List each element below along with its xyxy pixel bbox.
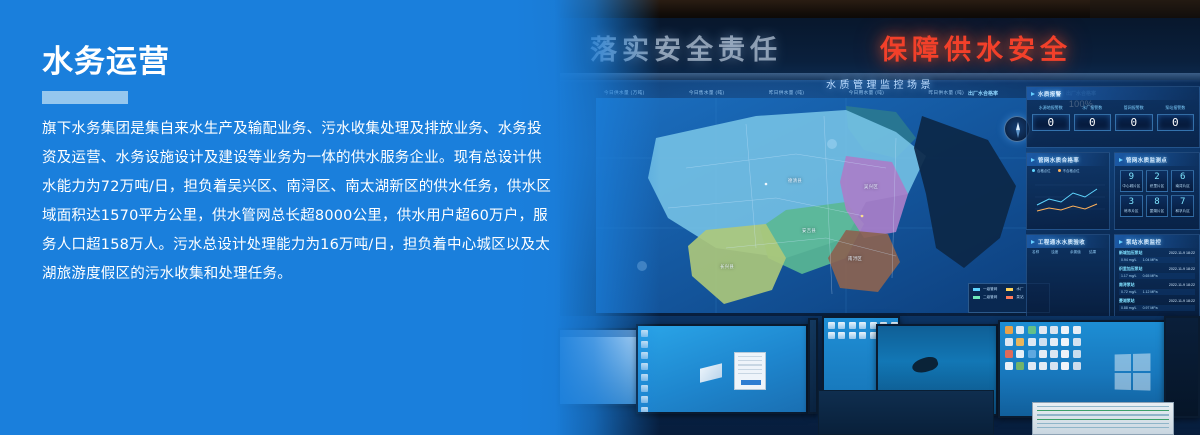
dialog-line <box>738 373 762 374</box>
monitor-points-grid: 9 中心城片区 2 织里片区 6 南浔片区 <box>1115 166 1199 222</box>
pump-name: 南浔泵站 <box>1119 282 1135 288</box>
pump-name: 菱湖泵站 <box>1119 298 1135 304</box>
legend-swatch <box>1006 288 1013 291</box>
stat-item: 昨日供水量 (吨) <box>769 90 805 98</box>
dialog-window <box>734 352 766 390</box>
card-title: 水质报警 <box>1038 90 1062 98</box>
arrow-icon <box>1031 158 1035 162</box>
desktop-icon <box>1061 338 1069 346</box>
desktop-icon <box>1061 326 1069 334</box>
dialog-line <box>738 356 762 357</box>
desktop-icon <box>1050 338 1058 346</box>
desktop-icon <box>1073 338 1081 346</box>
desktop-icon <box>1028 362 1036 370</box>
monitor-point-cell[interactable]: 2 织里片区 <box>1146 170 1169 192</box>
desktop-icon <box>1016 362 1024 370</box>
monitor-point-cell[interactable]: 6 南浔片区 <box>1171 170 1194 192</box>
monitor-point-value: 6 <box>1172 173 1193 183</box>
alarm-cell[interactable]: 水源地报警数 0 <box>1032 105 1070 131</box>
arrow-icon <box>1119 240 1123 244</box>
acceptance-table-header: 名称 浊度 余氯值 结果 <box>1027 248 1109 257</box>
alarm-label: 水厂报警数 <box>1074 105 1112 111</box>
monitor-point-value: 9 <box>1121 173 1142 183</box>
pump-log-row[interactable]: 新城加压泵站 2022-11-9 18:22 0.94 mg/L 1.04 MP… <box>1119 250 1195 263</box>
title-accent-bar <box>42 91 128 104</box>
desktop-icon <box>1039 326 1047 334</box>
monitor-point-value: 2 <box>1147 173 1168 183</box>
legend-swatch <box>973 288 980 291</box>
text-overlay-panel: 水务运营 旗下水务集团是集自来水生产及输配业务、污水收集处理及排放业务、水务投资… <box>0 0 660 435</box>
laptop-dark <box>818 390 994 435</box>
alarm-value: 0 <box>1047 116 1054 129</box>
legend-item: 合格点位 <box>1032 168 1051 173</box>
pump-log-top: 南浔泵站 2022-11-9 18:22 <box>1119 282 1195 288</box>
monitor-presentation <box>636 324 808 414</box>
arrow-icon <box>1031 92 1035 96</box>
monitor-point-value: 7 <box>1172 198 1193 208</box>
desktop-icon <box>1061 362 1069 370</box>
map-svg <box>596 98 1026 313</box>
banner-slogan-right: 保障供水安全 <box>880 28 1072 67</box>
desktop-icon <box>1028 350 1036 358</box>
desktop-icon <box>828 322 835 329</box>
stat-label: 昨日供水量 (吨) <box>929 90 965 96</box>
pump-time: 2022-11-9 18:22 <box>1169 251 1195 255</box>
diver-silhouette <box>910 354 939 375</box>
desktop-icon <box>1073 326 1081 334</box>
desktop-icon <box>1073 362 1081 370</box>
desktop-icon <box>828 332 835 339</box>
dialog-line <box>738 364 762 365</box>
spreadsheet-line <box>1037 419 1169 420</box>
pump-v2: 1.04 MPa <box>1143 258 1158 262</box>
arrow-icon <box>1031 240 1035 244</box>
desktop-icon <box>1050 350 1058 358</box>
monitor-point-value: 3 <box>1121 198 1142 208</box>
legend-dot <box>1032 169 1035 172</box>
pump-log-top: 织里加压泵站 2022-11-9 18:22 <box>1119 266 1195 272</box>
desktop-icon <box>1005 326 1013 334</box>
card-monitor-points[interactable]: 管网水质监测点 9 中心城片区 2 织里片区 <box>1114 152 1200 230</box>
map-district-label: 吴兴区 <box>864 184 878 190</box>
spreadsheet-line <box>1037 414 1169 415</box>
dialog-button <box>741 380 761 385</box>
desktop-icon <box>1016 338 1024 346</box>
monitor-point-label: 和孚片区 <box>1172 209 1193 214</box>
legend-label: 不合格点位 <box>1063 168 1080 173</box>
pump-log-values: 0.88 mg/L 0.97 MPa <box>1119 305 1195 311</box>
arrow-icon <box>1119 158 1123 162</box>
pump-v2: 0.97 MPa <box>1143 306 1158 310</box>
monitor-point-label: 练市片区 <box>1121 209 1142 214</box>
legend-label: 二级管网 <box>983 295 997 300</box>
desktop-icon <box>1005 338 1013 346</box>
desktop-icon <box>849 332 856 339</box>
legend-label: 一级管网 <box>983 287 997 292</box>
pump-name: 新城加压泵站 <box>1119 250 1142 256</box>
pump-log-list: 新城加压泵站 2022-11-9 18:22 0.94 mg/L 1.04 MP… <box>1115 248 1199 316</box>
stat-item: 昨日供水量 (吨) <box>929 90 965 98</box>
alarm-cell[interactable]: 管网报警数 0 <box>1115 105 1153 131</box>
alarm-box: 0 <box>1115 114 1153 131</box>
monitor-point-label: 织里片区 <box>1147 184 1168 189</box>
card-title: 管网水质监测点 <box>1126 156 1167 164</box>
legend-swatch <box>1006 296 1013 299</box>
monitor-point-cell[interactable]: 3 练市片区 <box>1120 195 1143 217</box>
desktop-icon <box>1050 362 1058 370</box>
map-district-label: 南浔区 <box>848 256 862 262</box>
monitor-point-cell[interactable]: 8 菱湖片区 <box>1146 195 1169 217</box>
stat-label: 今日售水量 (吨) <box>689 90 725 96</box>
alarm-label: 管网报警数 <box>1115 105 1153 111</box>
alarm-label: 泵站报警数 <box>1157 105 1195 111</box>
desktop-icon <box>859 322 866 329</box>
slide-banner: 落实安全责任 保障供水安全 水质管理监控场景 今日供水量 (万吨) 今日售水量 … <box>0 0 1200 435</box>
desktop-icon <box>1005 350 1013 358</box>
desktop-icon <box>1039 362 1047 370</box>
alarm-cell[interactable]: 水厂报警数 0 <box>1074 105 1112 131</box>
stat-item: 今日用水量 (吨) <box>849 90 885 98</box>
spreadsheet-line <box>1037 423 1169 424</box>
card-title: 工程通水水质验收 <box>1038 238 1085 246</box>
desktop-icon <box>849 322 856 329</box>
dashboard-right-column: 水质报警 水源地报警数 0 水厂报警数 <box>1026 80 1200 318</box>
desktop-icon-grid <box>1005 326 1081 370</box>
card-acceptance[interactable]: 工程通水水质验收 名称 浊度 余氯值 结果 <box>1026 234 1110 318</box>
pump-log-row[interactable]: 织里加压泵站 2022-11-9 18:22 1.17 mg/L 0.65 MP… <box>1119 266 1195 279</box>
map-district-label: 安吉县 <box>802 228 816 234</box>
app-logo-icon <box>700 363 722 382</box>
dialog-line <box>738 369 762 370</box>
pump-time: 2022-11-9 18:22 <box>1169 283 1195 287</box>
monitor-point-cell[interactable]: 7 和孚片区 <box>1171 195 1194 217</box>
monitor-point-value: 8 <box>1147 198 1168 208</box>
laptop-spreadsheet <box>1032 402 1174 435</box>
district-map[interactable]: 德清县 安吉县 长兴县 吴兴区 南浔区 一级管网 水厂 <box>596 98 1026 313</box>
legend-dot <box>1058 169 1061 172</box>
card-header: 管网水质监测点 <box>1115 153 1199 166</box>
spreadsheet-line <box>1037 406 1169 407</box>
stat-label: 今日用水量 (吨) <box>849 90 885 96</box>
desktop-icon <box>838 332 845 339</box>
desktop-icon <box>1028 326 1036 334</box>
alarm-grid: 水源地报警数 0 水厂报警数 0 <box>1027 100 1199 136</box>
alarm-value: 0 <box>1089 116 1096 129</box>
pump-time: 2022-11-9 18:22 <box>1169 299 1195 303</box>
alarm-box: 0 <box>1032 114 1070 131</box>
desktop-icon <box>1039 350 1047 358</box>
pump-v2: 0.65 MPa <box>1143 274 1158 278</box>
monitor-point-label: 中心城片区 <box>1121 184 1142 189</box>
card-pump-monitor[interactable]: 泵站水质监控 新城加压泵站 2022-11-9 18:22 0.94 mg/L <box>1114 234 1200 318</box>
windows-logo-icon <box>1115 353 1151 390</box>
stat-label: 昨日供水量 (吨) <box>769 90 805 96</box>
monitor-point-cell[interactable]: 9 中心城片区 <box>1120 170 1143 192</box>
column-header: 名称 <box>1032 250 1047 255</box>
spreadsheet-line <box>1037 410 1169 411</box>
desktop-icon <box>1050 326 1058 334</box>
legend-label: 水厂 <box>1016 287 1023 292</box>
column-header: 浊度 <box>1051 250 1066 255</box>
pump-log-values: 0.94 mg/L 1.04 MPa <box>1119 257 1195 263</box>
desktop-icon <box>1005 362 1013 370</box>
alarm-cell[interactable]: 泵站报警数 0 <box>1157 105 1195 131</box>
column-header: 结果 <box>1089 250 1104 255</box>
rate-label: 出厂水合格率 <box>968 90 998 97</box>
desktop-icon <box>1028 338 1036 346</box>
card-pipeline-pass-rate[interactable]: 管网水质合格率 合格点位 不合格点位 <box>1026 152 1110 230</box>
pass-rate-legend: 合格点位 不合格点位 <box>1027 166 1109 175</box>
map-district-label: 德清县 <box>788 178 802 184</box>
desktop-icon <box>1039 338 1047 346</box>
card-header: 工程通水水质验收 <box>1027 235 1109 248</box>
alarm-box: 0 <box>1074 114 1112 131</box>
card-title: 泵站水质监控 <box>1126 238 1161 246</box>
card-header: 泵站水质监控 <box>1115 235 1199 248</box>
desktop-icon <box>1061 350 1069 358</box>
legend-label: 合格点位 <box>1037 168 1051 173</box>
map-district-label: 长兴县 <box>720 264 734 270</box>
pump-v2: 1.12 MPa <box>1143 290 1158 294</box>
pump-name: 织里加压泵站 <box>1119 266 1142 272</box>
pass-rate-chart <box>1027 175 1111 221</box>
pump-log-row[interactable]: 南浔泵站 2022-11-9 18:22 0.72 mg/L 1.12 MPa <box>1119 282 1195 295</box>
desktop-icon <box>1016 350 1024 358</box>
stat-item: 今日售水量 (吨) <box>689 90 725 98</box>
legend-swatch <box>973 296 980 299</box>
pump-log-values: 1.17 mg/L 0.65 MPa <box>1119 273 1195 279</box>
alarm-value: 0 <box>1172 116 1179 129</box>
pump-log-row[interactable]: 菱湖泵站 2022-11-9 18:22 0.88 mg/L 0.97 MPa <box>1119 298 1195 311</box>
alarm-label: 水源地报警数 <box>1032 105 1070 111</box>
pump-log-values: 0.72 mg/L 1.12 MPa <box>1119 289 1195 295</box>
pump-log-top: 菱湖泵站 2022-11-9 18:22 <box>1119 298 1195 304</box>
body-paragraph: 旗下水务集团是集自来水生产及输配业务、污水收集处理及排放业务、水务投资及运营、水… <box>42 115 552 289</box>
card-water-quality-alarm[interactable]: 水质报警 水源地报警数 0 水厂报警数 <box>1026 86 1200 148</box>
dialog-line <box>738 360 762 361</box>
pump-v1: 0.88 mg/L <box>1121 306 1137 310</box>
monitor-point-label: 南浔片区 <box>1172 184 1193 189</box>
desktop-icon <box>859 332 866 339</box>
alarm-box: 0 <box>1157 114 1195 131</box>
legend-label: 泵站 <box>1016 295 1023 300</box>
monitor-edge <box>808 318 818 414</box>
monitor-point-label: 菱湖片区 <box>1147 209 1168 214</box>
pump-time: 2022-11-9 18:22 <box>1169 267 1195 271</box>
alarm-value: 0 <box>1130 116 1137 129</box>
card-title: 管网水质合格率 <box>1038 156 1079 164</box>
pump-v1: 0.72 mg/L <box>1121 290 1137 294</box>
spreadsheet-line <box>1037 427 1169 428</box>
page-title: 水务运营 <box>42 47 170 78</box>
desktop-icon <box>1016 326 1024 334</box>
column-header: 余氯值 <box>1070 250 1085 255</box>
legend-item: 不合格点位 <box>1058 168 1080 173</box>
pump-v1: 1.17 mg/L <box>1121 274 1137 278</box>
desktop-icon <box>1073 350 1081 358</box>
pump-log-top: 新城加压泵站 2022-11-9 18:22 <box>1119 250 1195 256</box>
card-header: 管网水质合格率 <box>1027 153 1109 166</box>
desktop-icon <box>838 322 845 329</box>
card-header: 水质报警 <box>1027 87 1199 100</box>
pump-v1: 0.94 mg/L <box>1121 258 1137 262</box>
